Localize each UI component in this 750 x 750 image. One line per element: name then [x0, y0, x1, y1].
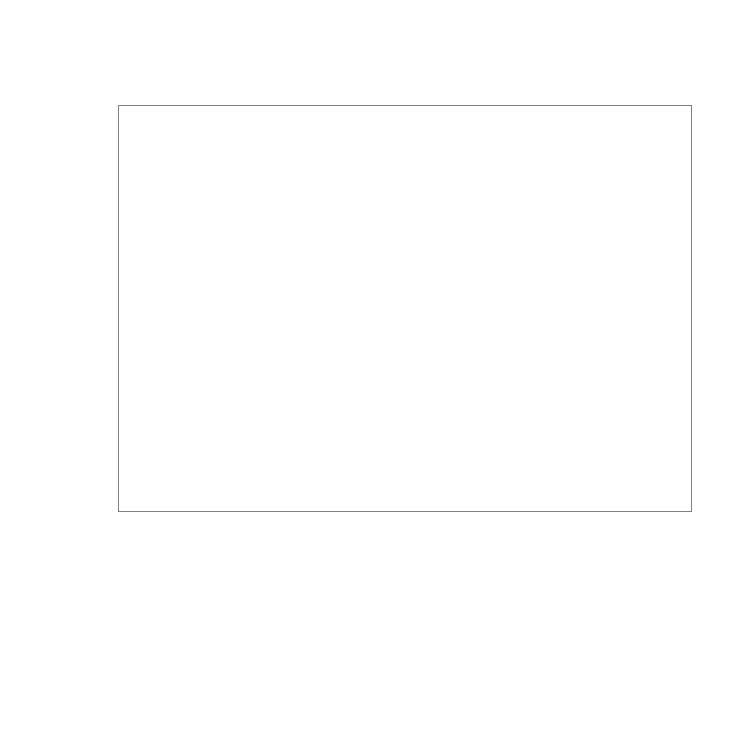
- plot-panel: [118, 105, 692, 512]
- y-axis-title: [26, 105, 50, 513]
- plot-overlay: [119, 106, 692, 512]
- chart-canvas: [0, 0, 750, 750]
